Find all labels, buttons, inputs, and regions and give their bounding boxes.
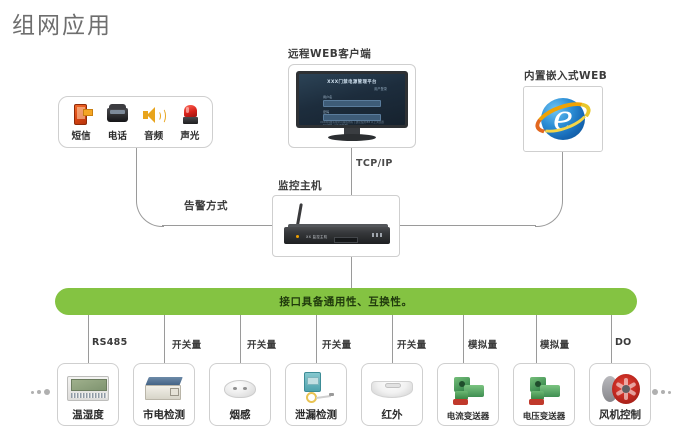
- alarm-label-beacon: 声光: [180, 128, 199, 142]
- screen-subtitle: 用户登录: [299, 86, 405, 91]
- monitor-illustration: XXX门禁电源管理平台 用户登录 用户名 密码 验证码 / 验证码图 登 录 X…: [296, 71, 408, 141]
- voltage-transducer-icon: [517, 372, 571, 410]
- device-label-current-transducer: 电流变送器: [447, 410, 490, 422]
- line-bus-to-device-8: [611, 315, 612, 363]
- interface-label-3: 开关量: [247, 337, 276, 351]
- alarm-methods-box: 短信 电话 音频 声光: [58, 96, 213, 148]
- host-power-led: [296, 235, 299, 238]
- screen-title: XXX门禁电源管理平台: [299, 79, 405, 85]
- alarm-label-phone: 电话: [108, 128, 127, 142]
- device-label-infrared: 红外: [382, 407, 403, 422]
- alarm-item-phone[interactable]: 电话: [100, 103, 134, 142]
- remote-web-client-node[interactable]: XXX门禁电源管理平台 用户登录 用户名 密码 验证码 / 验证码图 登 录 X…: [288, 64, 416, 148]
- device-card-leak[interactable]: 泄漏检测: [285, 363, 347, 426]
- infrared-detector-icon: [365, 369, 419, 407]
- device-card-infrared[interactable]: 红外: [361, 363, 423, 426]
- alarm-item-beacon[interactable]: 声光: [173, 103, 207, 142]
- embedded-web-node[interactable]: [523, 86, 603, 152]
- line-bus-to-device-7: [536, 315, 537, 363]
- monitoring-host-node[interactable]: XX 监控主机: [272, 195, 400, 257]
- line-bus-to-device-4: [316, 315, 317, 363]
- interface-bus-bar-text: 接口具备通用性、互换性。: [279, 294, 412, 309]
- interface-label-1: RS485: [92, 337, 128, 348]
- interface-bus-bar: 接口具备通用性、互换性。: [55, 288, 637, 315]
- alarm-item-audio[interactable]: 音频: [137, 103, 171, 142]
- embedded-web-label: 内置嵌入式WEB: [524, 68, 607, 83]
- phone-icon: [104, 103, 130, 127]
- line-monitor-to-host: [351, 148, 352, 195]
- tcpip-link-label: TCP/IP: [356, 158, 393, 169]
- alarm-label-audio: 音频: [144, 128, 163, 142]
- page-title: 组网应用: [12, 6, 112, 40]
- smoke-detector-icon: [213, 369, 267, 407]
- monitor-stand-base: [328, 134, 376, 141]
- device-label-leak: 泄漏检测: [295, 407, 337, 422]
- leak-detector-icon: [289, 369, 343, 407]
- interface-label-7: 模拟量: [540, 337, 569, 351]
- device-card-smoke[interactable]: 烟感: [209, 363, 271, 426]
- interface-label-6: 模拟量: [468, 337, 497, 351]
- interface-label-2: 开关量: [172, 337, 201, 351]
- screen-footer: XXXX科技有限公司版权所有 | 建议使用IE8 以上浏览器: [299, 120, 405, 124]
- more-devices-right-icon: [652, 389, 671, 395]
- line-bus-to-device-5: [392, 315, 393, 363]
- device-label-temp-humidity: 温湿度: [72, 407, 104, 422]
- more-devices-left-icon: [31, 389, 50, 395]
- lcd-temp-humidity-icon: [61, 369, 115, 407]
- host-port-strip: [334, 237, 358, 243]
- line-bus-to-device-2: [164, 315, 165, 363]
- line-alarm-into-host: [162, 225, 273, 226]
- interface-label-4: 开关量: [322, 337, 351, 351]
- mains-detector-icon: [137, 369, 191, 407]
- line-bus-to-device-1: [88, 315, 89, 363]
- internet-explorer-icon: [534, 93, 592, 145]
- host-brand-text: XX 监控主机: [306, 234, 327, 239]
- alarm-label-sms: 短信: [72, 128, 91, 142]
- screen-username-input[interactable]: [323, 100, 381, 107]
- monitor-screen: XXX门禁电源管理平台 用户登录 用户名 密码 验证码 / 验证码图 登 录 X…: [299, 74, 405, 125]
- screen-field2-label: 密码: [323, 109, 381, 114]
- device-label-mains-detect: 市电检测: [143, 407, 185, 422]
- screen-field1-label: 用户名: [323, 94, 381, 99]
- alarm-item-sms[interactable]: 短信: [64, 103, 98, 142]
- beacon-icon: [177, 103, 203, 127]
- line-ie-into-host: [400, 225, 536, 226]
- line-alarm-down: [136, 148, 137, 194]
- device-card-temp-humidity[interactable]: 温湿度: [57, 363, 119, 426]
- current-transducer-icon: [441, 372, 495, 410]
- curve-ie-to-host: [535, 193, 563, 227]
- diagram-canvas: 组网应用 短信 电话 音频 声光 远: [0, 0, 692, 437]
- device-label-smoke: 烟感: [230, 407, 251, 422]
- host-label: 监控主机: [278, 178, 322, 193]
- line-ie-down: [562, 152, 563, 194]
- remote-client-label: 远程WEB客户端: [288, 46, 371, 61]
- sms-icon: [68, 103, 94, 127]
- host-chassis: XX 监控主机: [284, 227, 390, 244]
- device-card-mains-detect[interactable]: 市电检测: [133, 363, 195, 426]
- alarm-way-link-label: 告警方式: [184, 198, 228, 213]
- monitor-bezel: XXX门禁电源管理平台 用户登录 用户名 密码 验证码 / 验证码图 登 录 X…: [296, 71, 408, 128]
- fan-control-icon: [593, 369, 647, 407]
- line-host-to-bus: [351, 257, 352, 288]
- device-card-current-transducer[interactable]: 电流变送器: [437, 363, 499, 426]
- device-card-fan-control[interactable]: 风机控制: [589, 363, 651, 426]
- interface-label-8: DO: [615, 337, 632, 348]
- audio-icon: [141, 103, 167, 127]
- host-illustration: XX 监控主机: [278, 203, 394, 249]
- device-label-voltage-transducer: 电压变送器: [523, 410, 566, 422]
- line-bus-to-device-6: [463, 315, 464, 363]
- device-card-voltage-transducer[interactable]: 电压变送器: [513, 363, 575, 426]
- device-label-fan-control: 风机控制: [599, 407, 641, 422]
- host-status-leds: [372, 233, 382, 237]
- line-bus-to-device-3: [240, 315, 241, 363]
- curve-alarm-to-host: [136, 193, 164, 227]
- interface-label-5: 开关量: [397, 337, 426, 351]
